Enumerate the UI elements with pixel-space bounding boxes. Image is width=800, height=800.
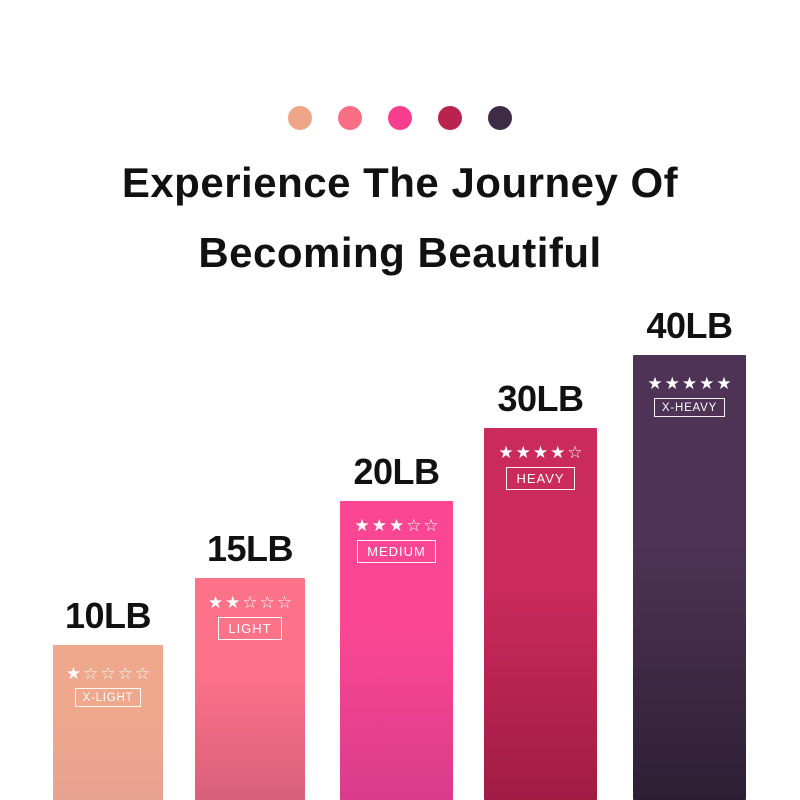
bar-weight-label-10lb: 10LB	[65, 595, 151, 637]
bar-badge-30lb: ★★★★☆HEAVY	[484, 444, 597, 490]
star-filled-icon: ★	[550, 444, 565, 461]
bar-badge-20lb: ★★★☆☆MEDIUM	[340, 517, 453, 563]
star-empty-icon: ☆	[100, 665, 115, 682]
star-filled-icon: ★	[389, 517, 404, 534]
star-filled-icon: ★	[372, 517, 387, 534]
star-empty-icon: ☆	[423, 517, 438, 534]
star-rating-10lb: ★☆☆☆☆	[66, 665, 150, 682]
star-filled-icon: ★	[682, 375, 697, 392]
star-filled-icon: ★	[498, 444, 513, 461]
bar-level-tag-30lb: HEAVY	[506, 467, 574, 490]
bar-40lb[interactable]	[633, 355, 746, 800]
star-filled-icon: ★	[354, 517, 369, 534]
star-filled-icon: ★	[66, 665, 81, 682]
star-empty-icon: ☆	[242, 594, 257, 611]
star-empty-icon: ☆	[135, 665, 150, 682]
bar-badge-40lb: ★★★★★X-HEAVY	[633, 375, 746, 417]
bar-level-tag-20lb: MEDIUM	[357, 540, 436, 563]
star-filled-icon: ★	[716, 375, 731, 392]
bar-group-10lb[interactable]: 10LB★☆☆☆☆X-LIGHT	[53, 645, 163, 800]
star-filled-icon: ★	[533, 444, 548, 461]
star-empty-icon: ☆	[277, 594, 292, 611]
bar-weight-label-40lb: 40LB	[646, 305, 732, 347]
star-empty-icon: ☆	[406, 517, 421, 534]
bar-level-tag-10lb: X-LIGHT	[75, 688, 142, 707]
star-filled-icon: ★	[208, 594, 223, 611]
bar-weight-label-20lb: 20LB	[353, 451, 439, 493]
star-filled-icon: ★	[225, 594, 240, 611]
star-empty-icon: ☆	[567, 444, 582, 461]
star-empty-icon: ☆	[118, 665, 133, 682]
star-filled-icon: ★	[699, 375, 714, 392]
star-rating-40lb: ★★★★★	[647, 375, 731, 392]
star-filled-icon: ★	[516, 444, 531, 461]
star-rating-30lb: ★★★★☆	[498, 444, 582, 461]
star-rating-15lb: ★★☆☆☆	[208, 594, 292, 611]
bar-group-30lb[interactable]: 30LB★★★★☆HEAVY	[484, 428, 597, 800]
resistance-bar-chart: 10LB★☆☆☆☆X-LIGHT15LB★★☆☆☆LIGHT20LB★★★☆☆M…	[0, 0, 800, 800]
bar-weight-label-30lb: 30LB	[497, 378, 583, 420]
bar-group-40lb[interactable]: 40LB★★★★★X-HEAVY	[633, 355, 746, 800]
poster-canvas: Experience The Journey Of Becoming Beaut…	[0, 0, 800, 800]
star-empty-icon: ☆	[83, 665, 98, 682]
bar-badge-15lb: ★★☆☆☆LIGHT	[195, 594, 305, 640]
bar-badge-10lb: ★☆☆☆☆X-LIGHT	[53, 665, 163, 707]
star-rating-20lb: ★★★☆☆	[354, 517, 438, 534]
star-empty-icon: ☆	[260, 594, 275, 611]
bar-group-15lb[interactable]: 15LB★★☆☆☆LIGHT	[195, 578, 305, 800]
bar-group-20lb[interactable]: 20LB★★★☆☆MEDIUM	[340, 501, 453, 800]
bar-level-tag-40lb: X-HEAVY	[654, 398, 725, 417]
star-filled-icon: ★	[665, 375, 680, 392]
bar-weight-label-15lb: 15LB	[207, 528, 293, 570]
star-filled-icon: ★	[647, 375, 662, 392]
bar-level-tag-15lb: LIGHT	[218, 617, 281, 640]
